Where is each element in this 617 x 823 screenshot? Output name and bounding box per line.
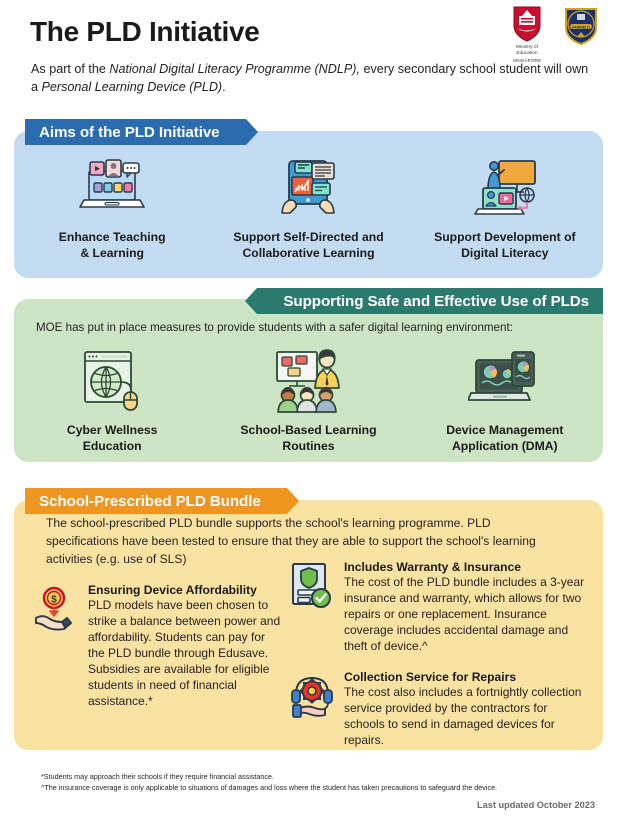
bundle-feature-title: Includes Warranty & Insurance [344,560,590,574]
safe-use-item-label-line2: Application (DMA) [446,439,563,455]
intro-text-1: As part of the [31,62,109,76]
school-crest-logo: FAIRFIELD [563,6,603,46]
infographic-page: The PLD Initiative As part of the Nation… [0,0,617,823]
bundle-feature-title: Collection Service for Repairs [344,670,590,684]
bundle-feature-text: Includes Warranty & Insurance The cost o… [344,560,590,655]
safe-use-item-label-line1: Cyber Wellness [67,423,158,439]
last-updated-label: Last updated October 2023 [477,800,595,810]
school-crest-icon: FAIRFIELD [563,6,599,46]
intro-emphasis-pld: Personal Learning Device (PLD) [42,80,223,94]
footnote-financial-assistance: *Students may approach their schools if … [41,771,591,782]
safe-use-item-label-line2: Routines [240,439,376,455]
safe-use-item-label: Device Management Application (DMA) [446,423,563,454]
safe-use-lead-text: MOE has put in place measures to provide… [36,320,596,336]
aims-item-self-directed: Support Self-Directed and Collaborative … [210,152,406,261]
svg-text:FAIRFIELD: FAIRFIELD [572,25,590,29]
moe-logo-subcaption: SINGAPORE [505,58,549,64]
safe-use-section-tag: Supporting Safe and Effective Use of PLD… [257,288,603,314]
aims-item-label: Enhance Teaching & Learning [59,230,166,261]
laptop-dashboard-charts-icon [468,345,542,417]
safe-use-item-label-line1: School-Based Learning [240,423,376,439]
teacher-whiteboard-laptop-icon [469,152,541,224]
moe-crest-icon [512,6,542,42]
tablet-collaboration-icon [272,152,344,224]
aims-items-row: Enhance Teaching & Learning [14,152,603,261]
safe-use-item-label-line1: Device Management [446,423,563,439]
bundle-feature-text: Ensuring Device Affordability PLD models… [88,583,284,710]
bundle-feature-warranty: Includes Warranty & Insurance The cost o… [290,560,590,655]
aims-item-digital-literacy: Support Development of Digital Literacy [407,152,603,261]
logo-group: Ministry of Education SINGAPORE FAIRFIEL… [505,6,603,65]
bundle-feature-title: Ensuring Device Affordability [88,583,284,597]
safe-use-item-learning-routines: School-Based Learning Routines [210,345,406,454]
aims-item-label-line2: & Learning [59,246,166,262]
bundle-feature-repairs: Collection Service for Repairs The cost … [290,670,590,749]
moe-logo: Ministry of Education SINGAPORE [505,6,549,65]
safe-use-item-label: School-Based Learning Routines [240,423,376,454]
bundle-feature-text: Collection Service for Repairs The cost … [344,670,590,749]
bundle-feature-affordability: $ Ensuring Device Affordability PLD mode… [34,583,284,710]
aims-section-tag-label: Aims of the PLD Initiative [39,124,220,141]
safe-use-item-label: Cyber Wellness Education [67,423,158,454]
coin-in-hand-icon: $ [34,583,80,710]
bundle-feature-body: PLD models have been chosen to strike a … [88,598,284,710]
intro-paragraph: As part of the National Digital Literacy… [31,60,591,97]
classroom-teacher-students-icon [271,345,345,417]
aims-item-label: Support Self-Directed and Collaborative … [233,230,383,261]
page-title: The PLD Initiative [30,16,260,48]
laptop-video-conference-icon [76,152,148,224]
svg-text:$: $ [51,595,57,606]
safe-use-items-row: Cyber Wellness Education [14,345,603,454]
aims-item-label: Support Development of Digital Literacy [434,230,576,261]
aims-section-tag: Aims of the PLD Initiative [25,119,246,145]
safe-use-section-tag-label: Supporting Safe and Effective Use of PLD… [283,293,589,310]
safe-use-item-cyber-wellness: Cyber Wellness Education [14,345,210,454]
aims-item-label-line1: Support Self-Directed and [233,230,383,246]
aims-item-label-line1: Enhance Teaching [59,230,166,246]
bundle-section-tag-label: School-Prescribed PLD Bundle [39,493,261,510]
aims-item-label-line2: Digital Literacy [434,246,576,262]
browser-globe-mouse-icon [77,345,147,417]
safe-use-item-label-line2: Education [67,439,158,455]
bundle-feature-body: The cost also includes a fortnightly col… [344,685,590,749]
bundle-section-tag: School-Prescribed PLD Bundle [25,488,287,514]
bundle-feature-body: The cost of the PLD bundle includes a 3-… [344,575,590,655]
footnote-insurance-coverage: ^The insurance coverage is only applicab… [41,782,591,793]
document-shield-check-icon [290,560,336,655]
aims-item-enhance-teaching: Enhance Teaching & Learning [14,152,210,261]
headset-gear-hand-icon [290,670,336,749]
intro-text-3: . [222,80,226,94]
footnotes: *Students may approach their schools if … [41,771,591,793]
header: The PLD Initiative As part of the Nation… [0,0,617,112]
moe-logo-caption: Ministry of Education [505,44,549,56]
aims-item-label-line2: Collaborative Learning [233,246,383,262]
aims-item-label-line1: Support Development of [434,230,576,246]
intro-emphasis-ndlp: National Digital Literacy Programme (NDL… [109,62,360,76]
safe-use-item-dma: Device Management Application (DMA) [407,345,603,454]
